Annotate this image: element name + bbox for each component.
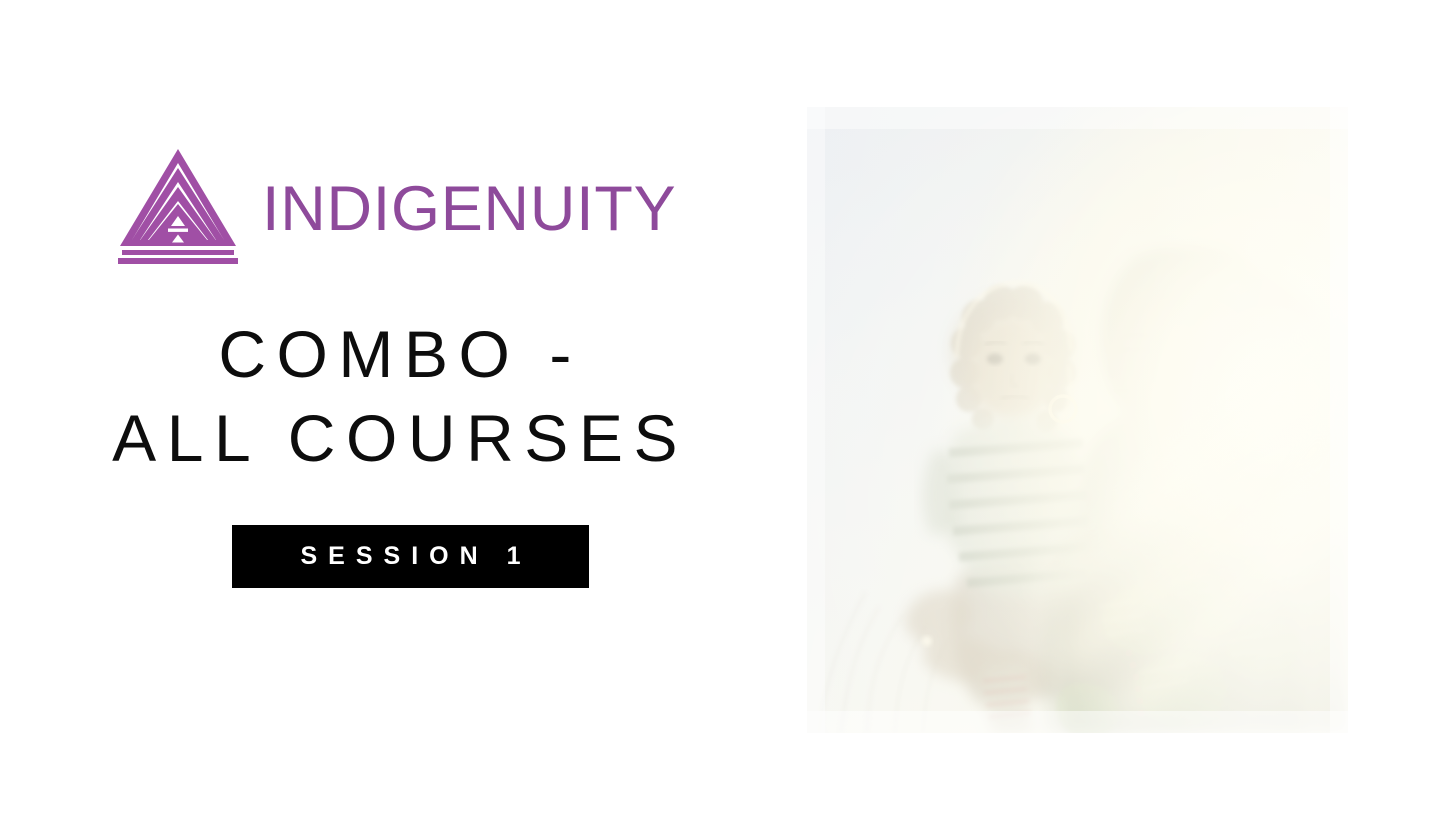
slide-canvas: INDIGENUITY COMBO - ALL COURSES SESSION … (0, 0, 1445, 813)
slide-title-line-2: ALL COURSES (0, 396, 790, 480)
slide-title-line-1: COMBO - (0, 312, 790, 396)
brand-logo-lockup: INDIGENUITY (112, 146, 676, 268)
session-badge: SESSION 1 (232, 525, 589, 588)
session-badge-label: SESSION 1 (290, 544, 532, 569)
hero-photo (807, 107, 1348, 733)
slide-title: COMBO - ALL COURSES (0, 312, 790, 481)
left-content-column: INDIGENUITY COMBO - ALL COURSES SESSION … (0, 0, 790, 813)
nested-triangle-logo-icon (112, 146, 244, 268)
brand-wordmark: INDIGENUITY (262, 178, 676, 241)
